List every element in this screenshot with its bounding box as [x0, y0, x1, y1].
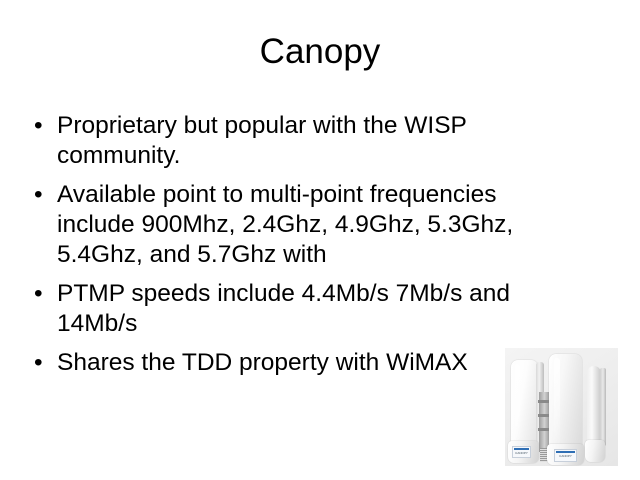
slide-canvas: Canopy • Proprietary but popular with th… [0, 0, 640, 480]
page-title: Canopy [0, 31, 640, 73]
canopy-radios-photo: CANOPY CANOPY [505, 348, 618, 466]
product-label-left: CANOPY [512, 446, 531, 458]
radio-base-right [585, 440, 605, 462]
list-item: • Available point to multi-point frequen… [30, 180, 550, 270]
list-item-text: PTMP speeds include 4.4Mb/s 7Mb/s and 14… [57, 279, 550, 339]
product-label-center: CANOPY [554, 449, 577, 462]
radio-unit-left [511, 360, 538, 448]
label-text: CANOPY [556, 454, 575, 458]
radio-fin-right [600, 368, 606, 446]
bullet-glyph: • [34, 279, 43, 309]
list-item: • PTMP speeds include 4.4Mb/s 7Mb/s and … [30, 279, 550, 339]
label-text: CANOPY [514, 451, 529, 455]
list-item: • Proprietary but popular with the WISP … [30, 111, 550, 171]
list-item-text: Available point to multi-point frequenci… [57, 180, 550, 270]
label-accent-band [514, 448, 529, 450]
list-item-text: Shares the TDD property with WiMAX [57, 348, 550, 378]
bullet-list: • Proprietary but popular with the WISP … [30, 111, 550, 387]
list-item-text: Proprietary but popular with the WISP co… [57, 111, 550, 171]
bullet-glyph: • [34, 111, 43, 141]
label-accent-band [556, 451, 575, 453]
list-item: • Shares the TDD property with WiMAX [30, 348, 550, 378]
radio-unit-right [587, 366, 601, 448]
bullet-glyph: • [34, 180, 43, 210]
radio-unit-center [549, 354, 582, 454]
bullet-glyph: • [34, 348, 43, 378]
